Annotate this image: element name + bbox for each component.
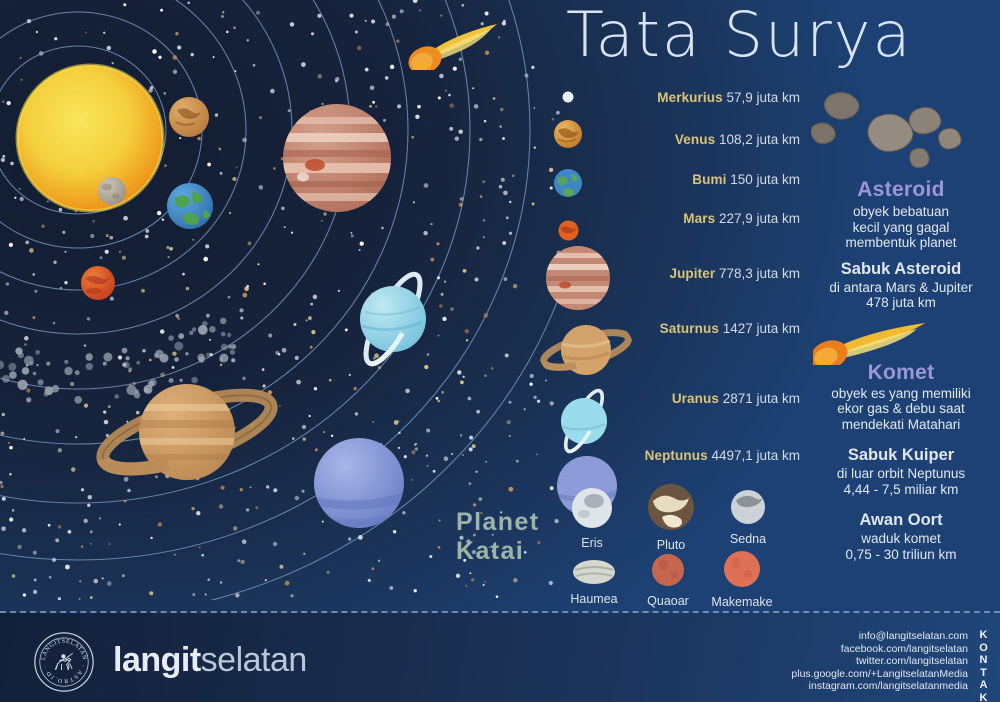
brand-light: selatan: [201, 641, 307, 679]
mercury-graphic: [97, 176, 127, 206]
list-row-neptunus: Neptunus 4497,1 juta km: [645, 448, 800, 463]
makemake-icon: [723, 550, 761, 588]
dwarf-item-makemake: Makemake: [706, 550, 778, 609]
brand-wordmark[interactable]: langitselatan: [113, 641, 307, 680]
kuiper-heading: Sabuk Kuiper: [808, 446, 994, 465]
dwarf-planet-title: Planet Katai: [456, 508, 566, 566]
planet-name: Neptunus: [645, 448, 708, 463]
belt-desc-line2: 478 juta km: [808, 295, 994, 311]
dwarf-label: Haumea: [558, 592, 630, 606]
list-row-bumi: Bumi 150 juta km: [692, 172, 800, 187]
dwarf-title-line2: Katai: [456, 537, 566, 566]
belt-heading: Sabuk Asteroid: [808, 260, 994, 279]
contact-instagram[interactable]: instagram.com/langitselatanmedia: [791, 680, 968, 693]
planet-name: Venus: [675, 132, 715, 147]
planet-name: Bumi: [692, 172, 726, 187]
contact-facebook[interactable]: facebook.com/langitselatan: [791, 643, 968, 656]
brand-bold: langit: [113, 641, 201, 679]
uranus-graphic: [338, 264, 448, 374]
dwarf-label: Quaoar: [632, 594, 704, 608]
dwarf-label: Sedna: [712, 532, 784, 546]
belt-desc-line1: di antara Mars & Jupiter: [808, 280, 994, 296]
oort-desc-line2: 0,75 - 30 triliun km: [808, 547, 994, 563]
asteroid-cluster-graphic: [811, 88, 991, 178]
svg-text:· ASTRO.ID ·: · ASTRO.ID ·: [43, 664, 85, 684]
kuiper-desc-line2: 4,44 - 7,5 miliar km: [808, 482, 994, 498]
planet-distance: 4497,1 juta km: [711, 448, 800, 463]
planet-name: Uranus: [672, 391, 719, 406]
mars-graphic: [80, 265, 116, 301]
venus-graphic: [168, 96, 210, 138]
asteroid-desc-line3: membentuk planet: [808, 235, 994, 251]
comet-graphic: [405, 18, 515, 70]
list-row-jupiter: Jupiter 778,3 juta km: [669, 266, 800, 281]
neptune-graphic: [310, 434, 408, 532]
asteroid-heading: Asteroid: [808, 178, 994, 202]
kuiper-desc-line1: di luar orbit Neptunus: [808, 466, 994, 482]
dwarf-item-sedna: Sedna: [712, 489, 784, 546]
saturn-graphic: [92, 362, 282, 502]
planet-distance: 2871 juta km: [723, 391, 800, 406]
langitselatan-logo-icon[interactable]: LANGITSELATAN · ASTRO.ID ·: [33, 631, 95, 693]
dwarf-label: Makemake: [706, 595, 778, 609]
list-row-saturnus: Saturnus 1427 juta km: [660, 321, 800, 336]
page-title: Tata Surya: [566, 4, 912, 66]
list-row-uranus: Uranus 2871 juta km: [672, 391, 800, 406]
logo-bottom-text: · ASTRO.ID ·: [43, 664, 85, 684]
oort-desc-line1: waduk komet: [808, 531, 994, 547]
planet-name: Mars: [683, 211, 715, 226]
pluto-icon: [647, 483, 695, 531]
dwarf-item-pluto: Pluto: [635, 483, 707, 552]
list-icon-merkurius: [562, 91, 574, 103]
dwarf-label: Pluto: [635, 538, 707, 552]
planet-distance: 778,3 juta km: [719, 266, 800, 281]
sun-graphic: [10, 58, 170, 218]
komet-desc-line3: mendekati Matahari: [808, 417, 994, 433]
jupiter-graphic: [282, 103, 392, 213]
dwarf-item-haumea: Haumea: [558, 559, 630, 606]
planet-name: Jupiter: [669, 266, 715, 281]
list-row-mars: Mars 227,9 juta km: [683, 211, 800, 226]
list-icon-jupiter: [545, 245, 611, 311]
list-row-merkurius: Merkurius 57,9 juta km: [657, 90, 800, 105]
komet-desc-line2: ekor gas & debu saat: [808, 401, 994, 417]
planet-name: Saturnus: [660, 321, 719, 336]
contact-email[interactable]: info@langitselatan.com: [791, 630, 968, 643]
planet-distance: 150 juta km: [730, 172, 800, 187]
planet-name: Merkurius: [657, 90, 722, 105]
list-row-venus: Venus 108,2 juta km: [675, 132, 800, 147]
komet-desc-line1: obyek es yang memiliki: [808, 386, 994, 402]
contact-twitter[interactable]: twitter.com/langitselatan: [791, 655, 968, 668]
haumea-icon: [572, 559, 616, 585]
planet-distance: 57,9 juta km: [726, 90, 800, 105]
comet-info-graphic: [813, 319, 989, 365]
asteroid-desc-line2: kecil yang gagal: [808, 220, 994, 236]
kontak-vertical-label: KONTAK: [976, 629, 992, 702]
list-icon-venus: [553, 119, 583, 149]
contact-list: info@langitselatan.com facebook.com/lang…: [791, 630, 968, 693]
contact-googleplus[interactable]: plus.google.com/+LangitselatanMedia: [791, 668, 968, 681]
planet-distance: 108,2 juta km: [719, 132, 800, 147]
list-icon-bumi: [553, 168, 583, 198]
sedna-icon: [730, 489, 766, 525]
planet-list: Merkurius 57,9 juta km Venus 108,2 juta …: [540, 78, 800, 498]
asteroid-desc-line1: obyek bebatuan: [808, 204, 994, 220]
planet-distance: 1427 juta km: [723, 321, 800, 336]
list-icon-uranus: [544, 384, 624, 458]
planet-distance: 227,9 juta km: [719, 211, 800, 226]
eris-icon: [571, 487, 613, 529]
dwarf-label: Eris: [556, 536, 628, 550]
dwarf-item-eris: Eris: [556, 487, 628, 550]
earth-graphic: [166, 182, 214, 230]
quaoar-icon: [651, 553, 685, 587]
list-icon-saturnus: [538, 314, 634, 386]
info-column: Asteroid obyek bebatuan kecil yang gagal…: [808, 88, 994, 562]
dwarf-title-line1: Planet: [456, 508, 566, 537]
oort-heading: Awan Oort: [808, 511, 994, 530]
dwarf-item-quaoar: Quaoar: [632, 553, 704, 608]
list-icon-mars: [558, 220, 579, 241]
infographic-poster: Tata Surya: [0, 0, 1000, 702]
footer: LANGITSELATAN · ASTRO.ID · langitselatan…: [0, 613, 1000, 702]
